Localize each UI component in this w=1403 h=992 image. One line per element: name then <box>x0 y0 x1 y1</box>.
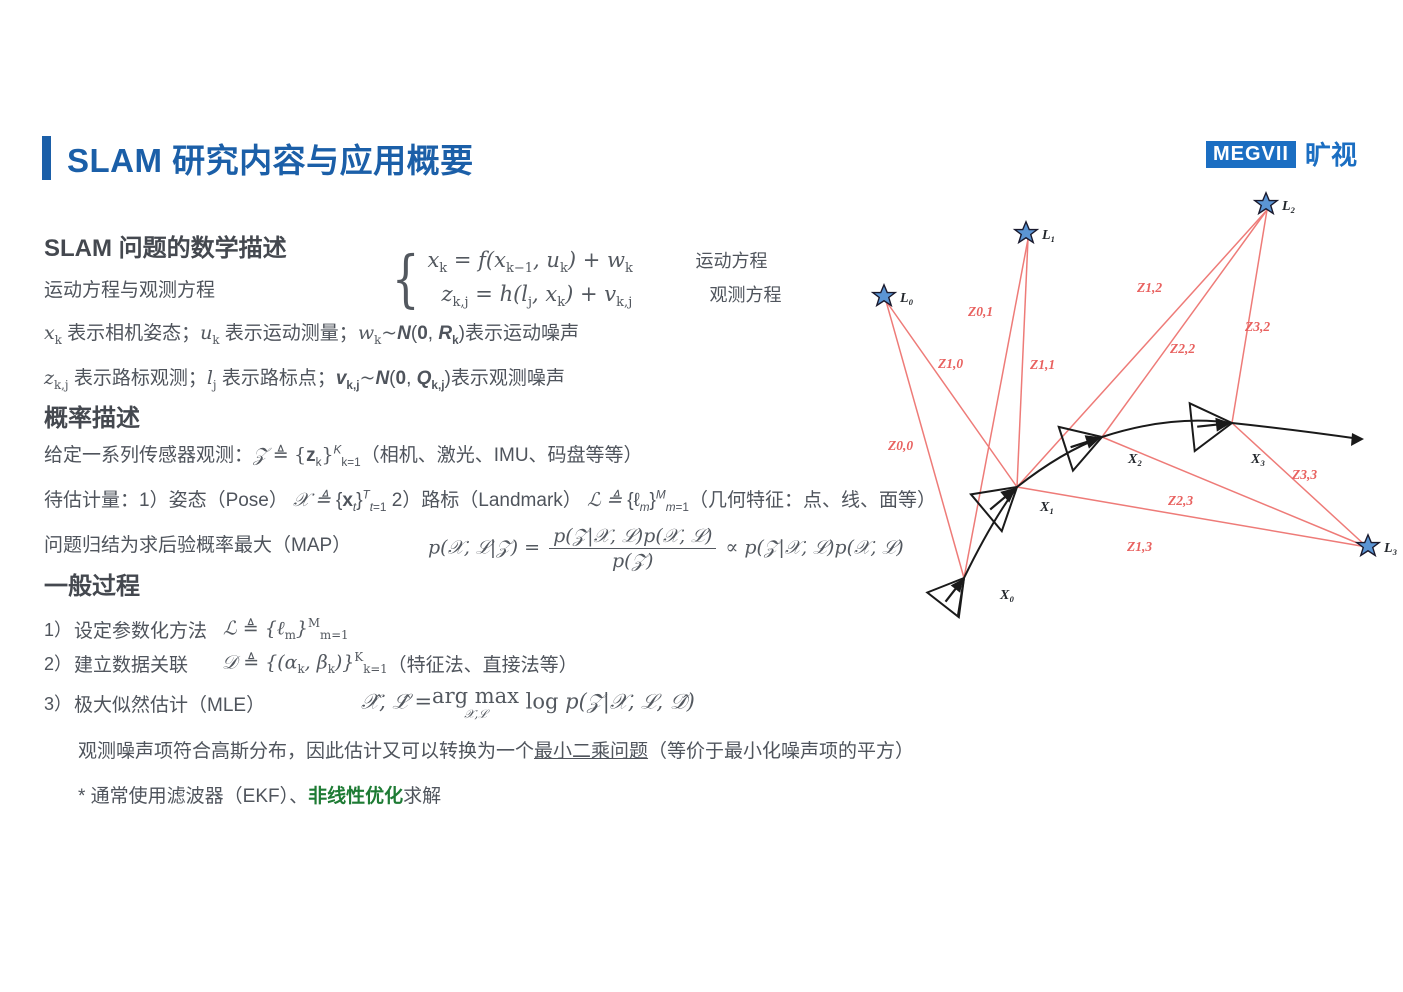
observation-label-z10: Z1,0 <box>937 356 963 371</box>
probability-observations-line: 给定一系列传感器观测：𝒵 ≜ {zk}Kk=1（相机、激光、IMU、码盘等等） <box>44 440 936 469</box>
equation-row-observation: zk,j = h(lj, xk) + vk,j 观测方程 <box>427 281 781 310</box>
equation-observation-tag: 观测方程 <box>709 281 781 307</box>
title-accent-bar <box>42 136 51 180</box>
process-list: 1） 设定参数化方法 ℒ ≜ {ℓm}Mm=1 2） 建立数据关联 𝒟 ≜ {(… <box>44 612 914 808</box>
landmark-label-l2: L₂ <box>1281 199 1296 214</box>
process-note-underlined: 最小二乘问题 <box>534 741 648 762</box>
edge-x2-l2 <box>1102 210 1267 437</box>
process-item-1-label: 设定参数化方法 <box>74 616 207 643</box>
section-process-heading: 一般过程 <box>44 566 140 601</box>
observation-label-z12: Z1,2 <box>1136 280 1162 295</box>
equation-row-motion: xk = f(xk−1, uk) + wk 运动方程 <box>427 247 781 276</box>
observation-label-z23: Z2,3 <box>1167 493 1193 508</box>
edge-x1-l1 <box>1017 239 1028 487</box>
process-item-3-math: 𝒳̂, ℒ̂ =arg max𝒳,ℒ log p(𝒵|𝒳, ℒ, 𝒟̂) <box>361 686 695 720</box>
pose-markers <box>927 399 1234 617</box>
landmark-label-l1: L₁ <box>1041 228 1055 243</box>
page-title: SLAM 研究内容与应用概要 <box>67 134 474 182</box>
definition-line-2: zk,j 表示路标观测；lj 表示路标点；vk,j~N(0, Qk,j)表示观测… <box>44 363 579 392</box>
megvii-logo: MEGVII 旷视 <box>1206 141 1357 168</box>
pose-label-x0: X₀ <box>999 588 1014 603</box>
equation-brace: { <box>392 248 420 310</box>
landmark-label-l0: L₀ <box>899 291 914 306</box>
observation-label-z22: Z2,2 <box>1169 341 1195 356</box>
process-item-2-label: 建立数据关联 <box>74 650 188 677</box>
trajectory-arrowhead <box>1351 433 1364 446</box>
observation-label-z11: Z1,1 <box>1029 357 1055 372</box>
footnote-post: 求解 <box>403 786 441 807</box>
probability-estimate-line: 待估计量：1）姿态（Pose） 𝒳 ≜ {xt}Tt=1 2）路标（Landma… <box>44 485 936 514</box>
slide: SLAM 研究内容与应用概要 MEGVII 旷视 SLAM 问题的数学描述 运动… <box>0 0 1403 992</box>
star-l1 <box>1015 222 1038 243</box>
process-item-3-label: 极大似然估计（MLE） <box>74 690 265 717</box>
landmark-marker-l0 <box>873 285 896 306</box>
equation-observation: zk,j = h(lj, xk) + vk,j <box>427 282 709 310</box>
landmark-label-l3: L₃ <box>1383 541 1398 556</box>
observation-label-z13: Z1,3 <box>1126 539 1152 554</box>
process-item-1: 1） 设定参数化方法 ℒ ≜ {ℓm}Mm=1 <box>44 612 914 646</box>
equation-system: { xk = f(xk−1, uk) + wk 运动方程 zk,j = h(lj… <box>386 247 781 310</box>
star-l3 <box>1357 535 1380 556</box>
pose-marker-x2 <box>1059 415 1109 470</box>
slam-factor-graph-diagram: L₀ L₁ L₂ L₃ X₀ X₁ X₂ X₃ Z0,0 Z1,0 Z0,1 Z… <box>840 175 1400 655</box>
process-item-3-num: 3） <box>44 690 74 716</box>
footnote-highlight: 非线性优化 <box>308 786 403 807</box>
observation-label-z01: Z0,1 <box>967 304 993 319</box>
process-note-post: （等价于最小化噪声项的平方） <box>648 741 914 762</box>
trajectory-x3-end <box>1232 423 1360 439</box>
observation-edges <box>886 210 1367 578</box>
star-l0 <box>873 285 896 306</box>
logo-chinese-name: 旷视 <box>1305 142 1357 168</box>
edge-x0-l1 <box>964 239 1028 578</box>
observation-label-z32: Z3,2 <box>1244 319 1270 334</box>
logo-wordmark: MEGVII <box>1206 141 1296 168</box>
section-math-heading: SLAM 问题的数学描述 <box>44 228 287 263</box>
edge-x3-l3 <box>1232 423 1367 547</box>
process-item-3: 3） 极大似然估计（MLE） 𝒳̂, ℒ̂ =arg max𝒳,ℒ log p(… <box>44 680 914 726</box>
process-note-line: 观测噪声项符合高斯分布，因此估计又可以转换为一个最小二乘问题（等价于最小化噪声项… <box>78 736 914 763</box>
section-math-subtitle: 运动方程与观测方程 <box>44 275 287 302</box>
process-footnote: * 通常使用滤波器（EKF）、非线性优化求解 <box>78 781 914 808</box>
process-note-pre: 观测噪声项符合高斯分布，因此估计又可以转换为一个 <box>78 741 534 762</box>
observation-label-z00: Z0,0 <box>887 438 913 453</box>
observation-label-z33: Z3,3 <box>1291 467 1317 482</box>
process-item-1-num: 1） <box>44 616 74 642</box>
landmark-markers <box>873 193 1380 556</box>
pose-marker-x1 <box>971 469 1032 531</box>
estimate-prefix: 待估计量：1）姿态（Pose） <box>44 490 288 511</box>
section-probability-heading: 概率描述 <box>44 398 140 433</box>
pose-marker-x3 <box>1190 399 1235 451</box>
equation-motion: xk = f(xk−1, uk) + wk <box>427 248 695 276</box>
argmax-operator: arg max𝒳,ℒ <box>432 686 519 720</box>
trajectory-x2-x3 <box>1102 421 1232 437</box>
section-math-description: SLAM 问题的数学描述 运动方程与观测方程 <box>44 228 287 302</box>
pose-label-x1: X₁ <box>1039 500 1054 515</box>
pose-marker-x0 <box>927 566 979 617</box>
definition-line-1: xk 表示相机姿态；uk 表示运动测量；wk~N(0, Rk)表示运动噪声 <box>44 318 579 347</box>
pose-label-x2: X₂ <box>1127 452 1142 467</box>
process-item-1-math: ℒ ≜ {ℓm}Mm=1 <box>223 616 349 642</box>
landmark-marker-l3 <box>1357 535 1380 556</box>
symbol-definitions: xk 表示相机姿态；uk 表示运动测量；wk~N(0, Rk)表示运动噪声 zk… <box>44 318 579 392</box>
edge-x1-l0 <box>886 301 1017 487</box>
slide-header: SLAM 研究内容与应用概要 <box>42 134 474 182</box>
observations-suffix: （相机、激光、IMU、码盘等等） <box>361 445 643 466</box>
process-item-2-num: 2） <box>44 650 74 676</box>
pose-label-x3: X₃ <box>1250 452 1265 467</box>
map-fraction: p(𝒵|𝒳, ℒ)p(𝒳, ℒ) p(𝒵) <box>549 525 716 572</box>
edge-x1-l2 <box>1017 210 1267 487</box>
process-item-2-math: 𝒟 ≜ {(αk, βk)}Kk=1 <box>222 650 388 676</box>
map-formula: p(𝒳, ℒ|𝒵) = p(𝒵|𝒳, ℒ)p(𝒳, ℒ) p(𝒵) ∝ p(𝒵|… <box>428 525 904 572</box>
process-item-2: 2） 建立数据关联 𝒟 ≜ {(αk, βk)}Kk=1 （特征法、直接法等） <box>44 646 914 680</box>
estimate-mid: 2）路标（Landmark） <box>392 490 582 511</box>
footnote-pre: * 通常使用滤波器（EKF）、 <box>78 786 308 807</box>
process-item-2-note: （特征法、直接法等） <box>388 650 578 677</box>
equation-motion-tag: 运动方程 <box>695 247 767 273</box>
observations-prefix: 给定一系列传感器观测： <box>44 445 253 466</box>
landmark-marker-l1 <box>1015 222 1038 243</box>
